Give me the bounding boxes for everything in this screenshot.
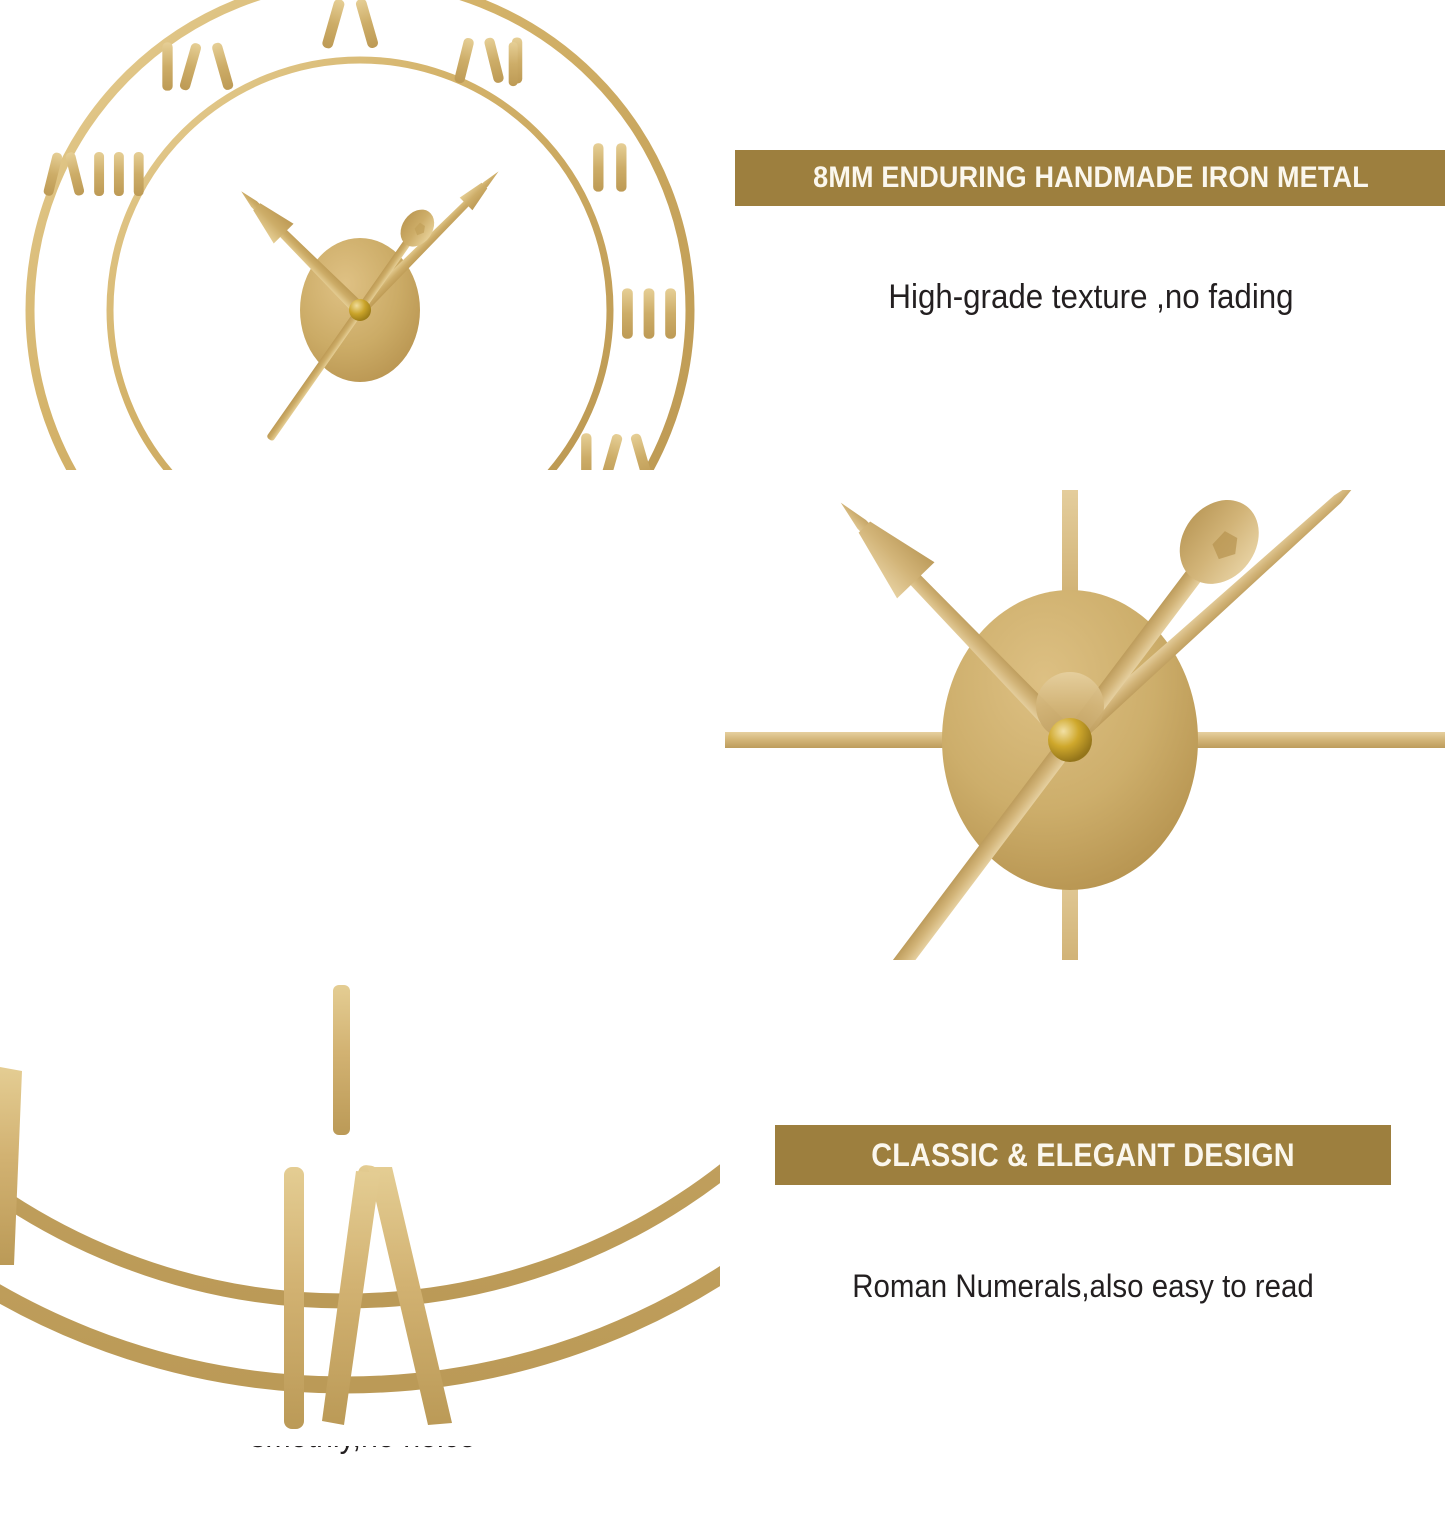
feature-3-subtext: Roman Numerals,also easy to read — [775, 1217, 1391, 1355]
clock-full-photo — [0, 0, 720, 470]
feature-1-banner-text: 8MM ENDURING HANDMADE IRON METAL — [783, 161, 1399, 195]
feature-block-3: CLASSIC & ELEGANT DESIGN Roman Numerals,… — [725, 985, 1445, 1446]
feature-1-subtext-line-1: High-grade texture ,no fading — [763, 274, 1418, 320]
infographic-page: 8MM ENDURING HANDMADE IRON METAL High-gr… — [0, 0, 1445, 1446]
feature-3-banner-text: CLASSIC & ELEGANT DESIGN — [822, 1137, 1344, 1174]
clock-hub-photo — [725, 490, 1445, 960]
feature-block-2: BRAND QUARTZ MOVEMENT High-quality, Prec… — [0, 490, 720, 960]
feature-1-banner: 8MM ENDURING HANDMADE IRON METAL — [735, 150, 1445, 206]
feature-3-banner: CLASSIC & ELEGANT DESIGN — [775, 1125, 1391, 1185]
clock-numeral-photo — [0, 985, 720, 1446]
feature-3-subtext-line-1: Roman Numerals,also easy to read — [800, 1263, 1367, 1309]
feature-1-subtext: High-grade texture ,no fading — [735, 228, 1445, 366]
feature-block-1: 8MM ENDURING HANDMADE IRON METAL High-gr… — [725, 0, 1445, 470]
